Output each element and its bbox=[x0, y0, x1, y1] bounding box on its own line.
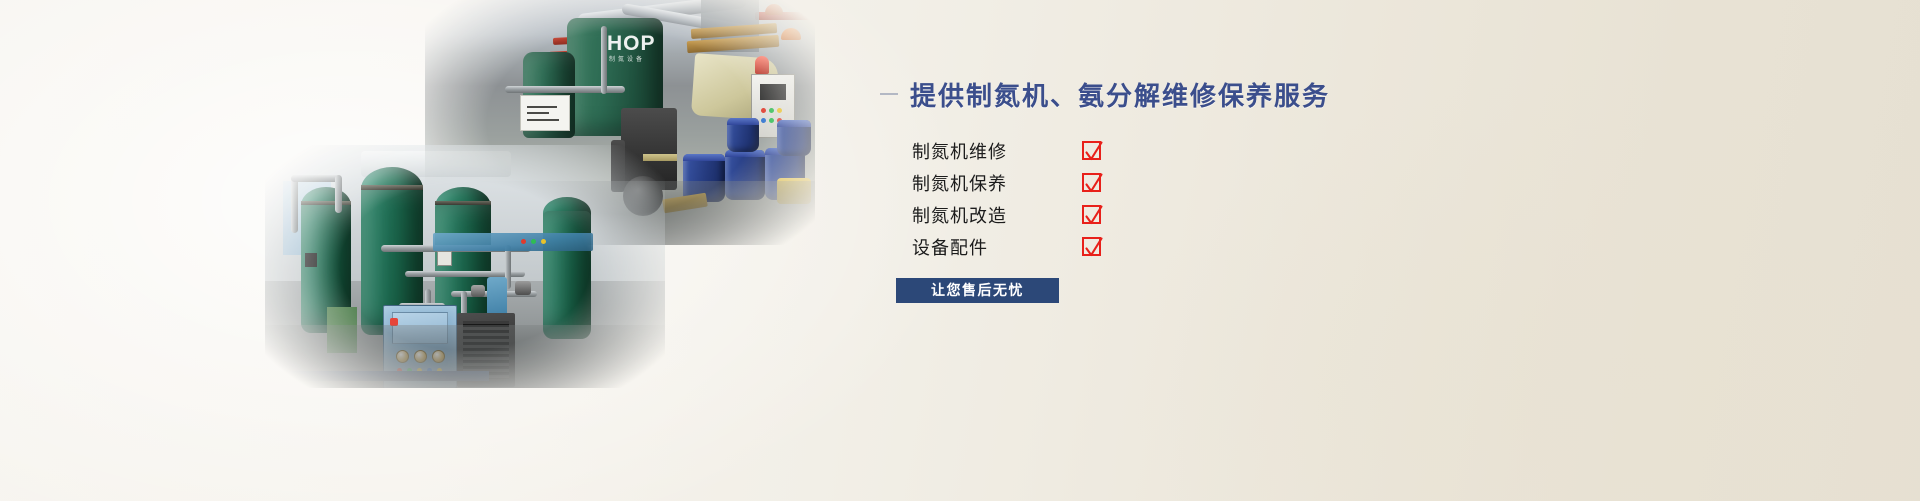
check-icon-glyph bbox=[1083, 237, 1104, 259]
promo-banner: HOP 制氮设备 bbox=[0, 0, 1920, 501]
check-icon bbox=[1082, 237, 1101, 256]
check-icon-glyph bbox=[1083, 205, 1104, 227]
check-icon bbox=[1082, 205, 1101, 224]
pipe bbox=[505, 86, 625, 93]
feature-label: 设备配件 bbox=[912, 234, 1082, 260]
feature-label: 制氮机维修 bbox=[912, 138, 1082, 164]
equipment-logo-sub: 制氮设备 bbox=[609, 54, 645, 63]
pipe bbox=[335, 175, 342, 213]
check-icon-glyph bbox=[1083, 141, 1104, 163]
equipment-logo: HOP bbox=[607, 32, 656, 56]
pipe bbox=[291, 175, 341, 182]
tank-flange bbox=[361, 185, 423, 190]
pipe bbox=[601, 26, 607, 94]
list-item: 制氮机改造 bbox=[912, 199, 1172, 230]
adsorber-tank bbox=[543, 211, 591, 339]
check-icon bbox=[1082, 173, 1101, 192]
banner-content: 提供制氮机、氨分解维修保养服务 制氮机维修 制氮机保养 bbox=[880, 0, 1520, 501]
nameplate bbox=[305, 253, 317, 267]
feature-label: 制氮机保养 bbox=[912, 170, 1082, 196]
list-item: 设备配件 bbox=[912, 231, 1172, 262]
warning-beacon bbox=[755, 56, 769, 74]
blue-drum bbox=[727, 118, 759, 152]
service-feature-list: 制氮机维修 制氮机保养 制氮机改造 bbox=[912, 135, 1172, 263]
nameplate bbox=[437, 251, 452, 266]
cta-button-label: 让您售后无忧 bbox=[931, 284, 1024, 298]
nitrogen-generator-photo bbox=[265, 145, 665, 388]
generator-scene bbox=[265, 145, 665, 388]
check-icon-glyph bbox=[1083, 173, 1104, 195]
equipment-photo-composite: HOP 制氮设备 bbox=[255, 0, 815, 400]
valve bbox=[471, 285, 485, 297]
equipment-label-card bbox=[520, 95, 570, 131]
safety-helmet bbox=[781, 28, 801, 40]
blue-drum bbox=[777, 120, 811, 156]
feature-label: 制氮机改造 bbox=[912, 202, 1082, 228]
safety-helmet bbox=[765, 4, 783, 15]
headline-row: 提供制氮机、氨分解维修保养服务 bbox=[880, 74, 1400, 114]
valve bbox=[515, 281, 531, 295]
list-item: 制氮机维修 bbox=[912, 135, 1172, 166]
cta-button[interactable]: 让您售后无忧 bbox=[896, 278, 1059, 303]
page-title: 提供制氮机、氨分解维修保养服务 bbox=[910, 76, 1330, 113]
control-panel-strip bbox=[433, 233, 593, 251]
check-icon bbox=[1082, 141, 1101, 160]
tank-flange bbox=[301, 201, 351, 205]
red-rack-beam bbox=[755, 12, 813, 20]
tank-flange bbox=[435, 201, 491, 205]
list-item: 制氮机保养 bbox=[912, 167, 1172, 198]
pipe bbox=[291, 175, 298, 233]
headline-rule bbox=[880, 93, 898, 95]
plant-floor bbox=[265, 325, 665, 388]
